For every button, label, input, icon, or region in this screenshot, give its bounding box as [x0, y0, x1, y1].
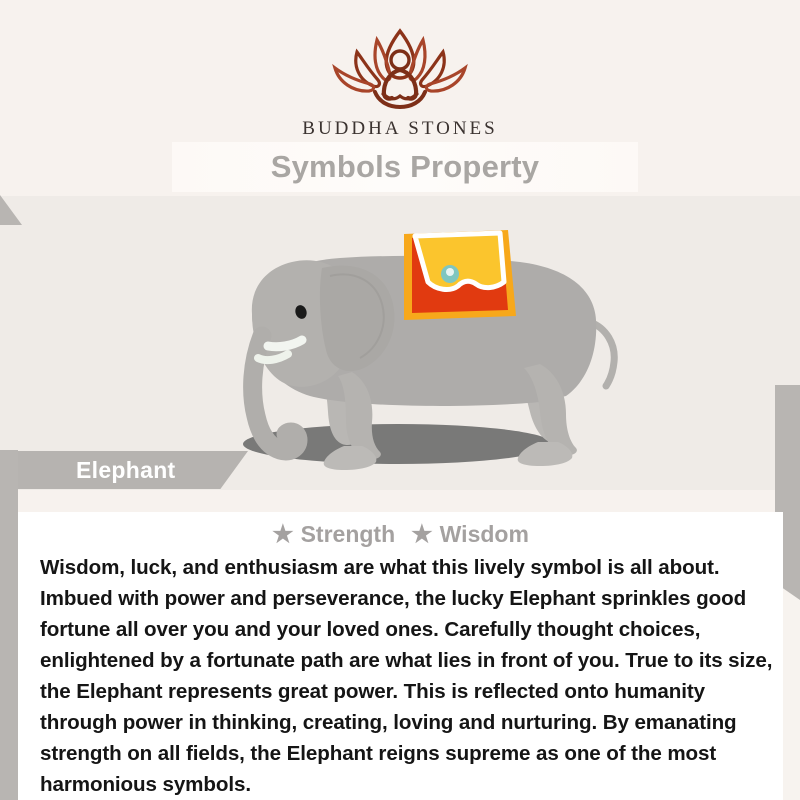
attribute-wisdom: ★ Wisdom [411, 521, 529, 548]
attributes-row: ★ Strength ★ Wisdom [18, 512, 783, 548]
symbol-name: Elephant [76, 457, 176, 484]
title-banner: Symbols Property [172, 142, 638, 192]
symbol-illustration-area [0, 196, 800, 490]
attribute-label: Strength [301, 521, 396, 548]
walking-elephant-illustration [0, 196, 800, 490]
page-title: Symbols Property [271, 149, 540, 185]
attribute-strength: ★ Strength [272, 521, 395, 548]
star-icon: ★ [411, 523, 433, 547]
brand-name: BUDDHA STONES [0, 118, 800, 140]
symbol-name-banner: Elephant [18, 451, 248, 489]
accent-rail-left [0, 450, 18, 800]
background-band-gap [0, 490, 800, 512]
symbol-property-poster: BUDDHA STONES Symbols Property [0, 0, 800, 800]
star-icon: ★ [272, 523, 294, 547]
description-panel: ★ Strength ★ Wisdom Wisdom, luck, and en… [18, 512, 783, 800]
brand-logo-block: BUDDHA STONES [0, 18, 800, 140]
symbol-description: Wisdom, luck, and enthusiasm are what th… [40, 552, 780, 800]
lotus-meditation-figure-icon [295, 18, 505, 114]
attribute-label: Wisdom [440, 521, 529, 548]
